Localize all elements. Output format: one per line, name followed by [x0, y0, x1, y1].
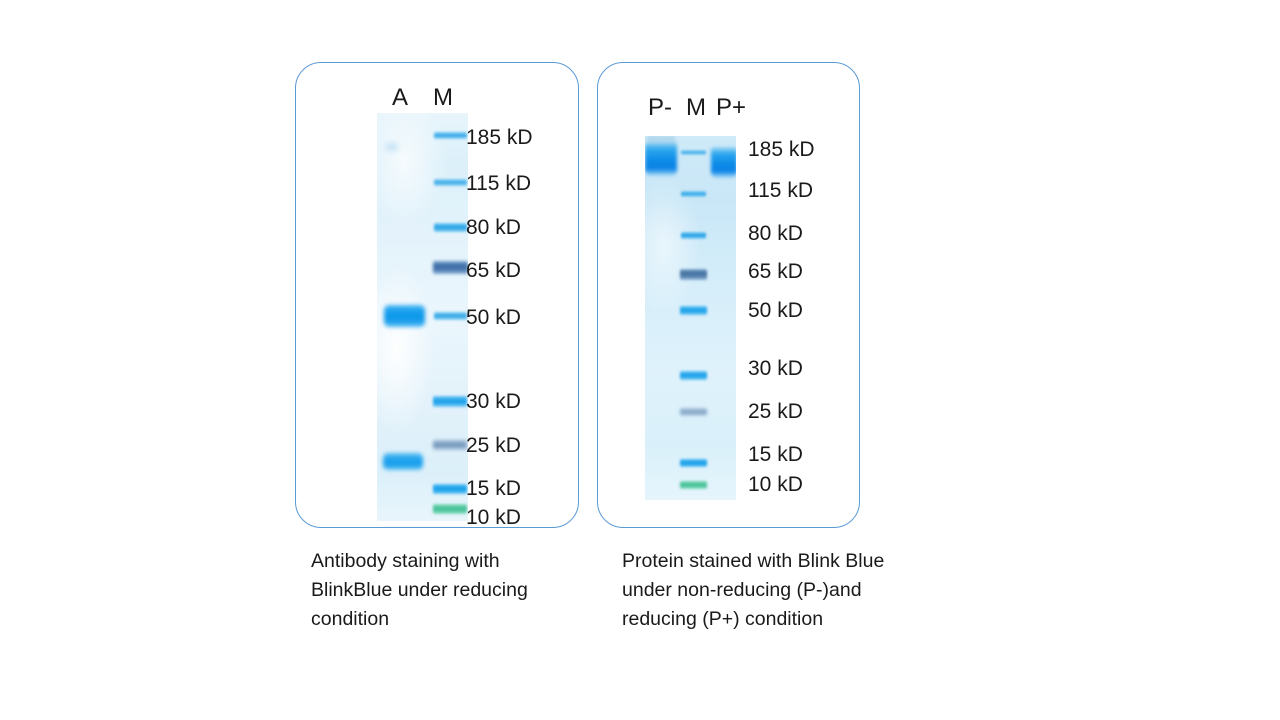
band-m-right-15kd	[680, 459, 707, 467]
band-pplus-highmw	[711, 147, 736, 178]
band-m-right-10kd	[680, 481, 707, 489]
caption-left-line-3: condition	[311, 605, 573, 634]
band-m-30kd	[433, 396, 467, 407]
caption-left-line-2: BlinkBlue under reducing	[311, 576, 573, 605]
caption-left: Antibody staining with BlinkBlue under r…	[311, 547, 573, 634]
caption-left-line-1: Antibody staining with	[311, 547, 573, 576]
kd-label-right-50: 50 kD	[748, 300, 803, 321]
kd-label-right-185: 185 kD	[748, 139, 815, 160]
band-m-right-30kd	[680, 371, 707, 380]
band-m-50kd	[434, 312, 467, 320]
kd-label-left-115: 115 kD	[466, 173, 531, 194]
band-m-right-65kd	[680, 269, 707, 280]
band-m-right-185kd	[681, 150, 706, 155]
band-m-10kd	[433, 504, 467, 514]
kd-label-left-80: 80 kD	[466, 217, 521, 238]
kd-label-left-65: 65 kD	[466, 260, 521, 281]
band-m-right-50kd	[680, 306, 707, 315]
caption-right-line-3: reducing (P+) condition	[622, 605, 932, 634]
band-m-15kd	[433, 484, 467, 494]
band-m-25kd	[433, 440, 467, 450]
kd-label-right-30: 30 kD	[748, 358, 803, 379]
caption-right: Protein stained with Blink Blue under no…	[622, 547, 932, 634]
band-a-well-smear	[379, 137, 405, 157]
kd-label-left-30: 30 kD	[466, 391, 521, 412]
lane-label-a: A	[392, 86, 408, 110]
band-m-right-80kd	[681, 232, 706, 239]
lane-label-p-minus: P-	[648, 96, 672, 120]
band-pminus-well-streak	[647, 136, 675, 146]
band-m-185kd	[434, 132, 467, 139]
kd-label-left-25: 25 kD	[466, 435, 521, 456]
caption-right-line-2: under non-reducing (P-)and	[622, 576, 932, 605]
kd-label-right-25: 25 kD	[748, 401, 803, 422]
kd-label-right-10: 10 kD	[748, 474, 803, 495]
figure-canvas: A M 185 kD 115 kD 80 kD 65 kD 50 kD 30 k…	[0, 0, 1280, 720]
kd-label-left-50: 50 kD	[466, 307, 521, 328]
band-pminus-highmw	[645, 142, 677, 176]
kd-label-right-115: 115 kD	[748, 180, 813, 201]
kd-label-left-185: 185 kD	[466, 127, 533, 148]
band-m-115kd	[434, 179, 467, 186]
band-m-65kd	[433, 261, 468, 274]
band-m-80kd	[434, 223, 467, 232]
band-m-right-25kd	[680, 408, 707, 416]
gel-image-left	[377, 113, 468, 521]
kd-label-right-80: 80 kD	[748, 223, 803, 244]
kd-label-left-10: 10 kD	[466, 507, 521, 528]
gel-image-right	[645, 136, 736, 500]
band-a-50kd-heavy-chain	[384, 305, 425, 327]
lane-label-p-plus: P+	[716, 96, 746, 120]
band-a-25kd-light-chain	[383, 453, 423, 470]
kd-label-left-15: 15 kD	[466, 478, 521, 499]
lane-label-m-left: M	[433, 86, 453, 110]
kd-label-right-65: 65 kD	[748, 261, 803, 282]
kd-label-right-15: 15 kD	[748, 444, 803, 465]
lane-label-m-right: M	[686, 96, 706, 120]
band-m-right-115kd	[681, 191, 706, 197]
caption-right-line-1: Protein stained with Blink Blue	[622, 547, 932, 576]
